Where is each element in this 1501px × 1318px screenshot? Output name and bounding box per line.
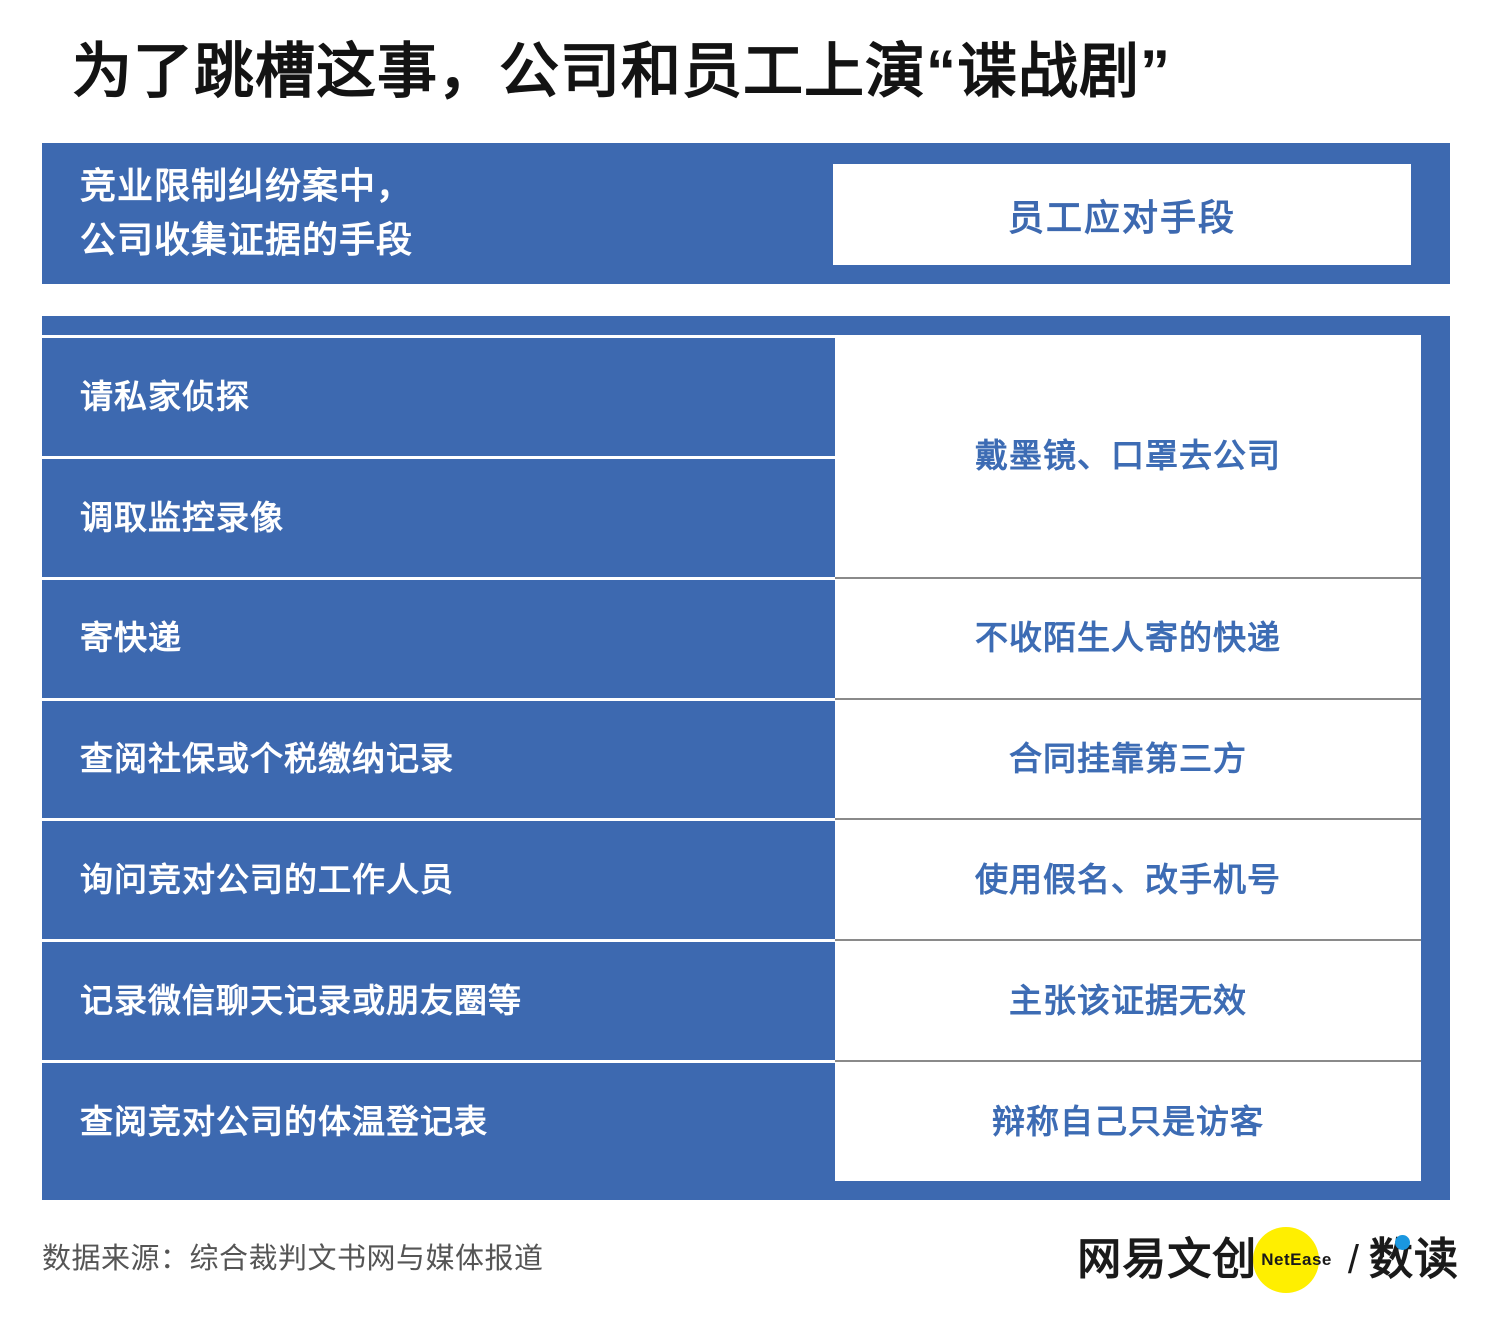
page-title: 为了跳槽这事，公司和员工上演“谍战剧” [72,26,1452,118]
responses-column: 戴墨镜、口罩去公司不收陌生人寄的快递合同挂靠第三方使用假名、改手机号主张该证据无… [835,335,1421,1181]
header-left-line-1: 竞业限制纠纷案中， [80,159,840,213]
method-row: 记录微信聊天记录或朋友圈等 [42,939,835,1060]
table-inner: 请私家侦探调取监控录像寄快递查阅社保或个税缴纳记录询问竞对公司的工作人员记录微信… [42,335,1450,1181]
header-left-line-2: 公司收集证据的手段 [80,213,840,267]
method-label: 请私家侦探 [42,379,250,415]
logo-product-group: 数读 [1369,1227,1459,1293]
method-row: 寄快递 [42,577,835,698]
response-row: 合同挂靠第三方 [835,698,1421,819]
methods-column: 请私家侦探调取监控录像寄快递查阅社保或个税缴纳记录询问竞对公司的工作人员记录微信… [42,335,835,1181]
response-label: 辩称自己只是访客 [992,1103,1264,1141]
response-row: 戴墨镜、口罩去公司 [835,335,1421,577]
method-label: 调取监控录像 [42,500,284,536]
response-label: 主张该证据无效 [1009,982,1247,1020]
method-row: 询问竞对公司的工作人员 [42,818,835,939]
logo-brand-en: NetEase [1261,1227,1332,1293]
method-label: 寄快递 [42,620,182,656]
method-label: 记录微信聊天记录或朋友圈等 [42,983,522,1019]
logo-netease-group: 网易文创 NetEase [1077,1227,1332,1293]
method-row: 调取监控录像 [42,456,835,577]
table-header-band: 竞业限制纠纷案中， 公司收集证据的手段 员工应对手段 [42,143,1450,284]
source-note: 数据来源：综合裁判文书网与媒体报道 [42,1235,544,1277]
response-label: 戴墨镜、口罩去公司 [975,437,1281,475]
header-right-label: 员工应对手段 [1008,189,1236,241]
header-right-box: 员工应对手段 [833,164,1411,265]
response-label: 不收陌生人寄的快递 [975,619,1281,657]
logo-separator: / [1348,1227,1359,1293]
brand-logo: 网易文创 NetEase / 数读 [1077,1227,1459,1293]
response-row: 使用假名、改手机号 [835,818,1421,939]
method-label: 查阅竞对公司的体温登记表 [42,1104,488,1140]
method-row: 查阅竞对公司的体温登记表 [42,1060,835,1181]
method-row: 查阅社保或个税缴纳记录 [42,698,835,819]
response-row: 主张该证据无效 [835,939,1421,1060]
response-label: 使用假名、改手机号 [975,861,1281,899]
logo-brand-cn: 网易文创 [1077,1227,1257,1293]
response-row: 辩称自己只是访客 [835,1060,1421,1181]
method-row: 请私家侦探 [42,335,835,456]
comparison-table: 请私家侦探调取监控录像寄快递查阅社保或个税缴纳记录询问竞对公司的工作人员记录微信… [42,316,1450,1200]
response-row: 不收陌生人寄的快递 [835,577,1421,698]
header-left-title: 竞业限制纠纷案中， 公司收集证据的手段 [80,159,840,267]
response-label: 合同挂靠第三方 [1009,740,1247,778]
logo-product-cn: 数读 [1369,1235,1459,1284]
footer: 数据来源：综合裁判文书网与媒体报道 网易文创 NetEase / 数读 [0,1225,1501,1305]
blue-dot-icon [1395,1235,1410,1250]
method-label: 查阅社保或个税缴纳记录 [42,741,454,777]
method-label: 询问竞对公司的工作人员 [42,862,454,898]
